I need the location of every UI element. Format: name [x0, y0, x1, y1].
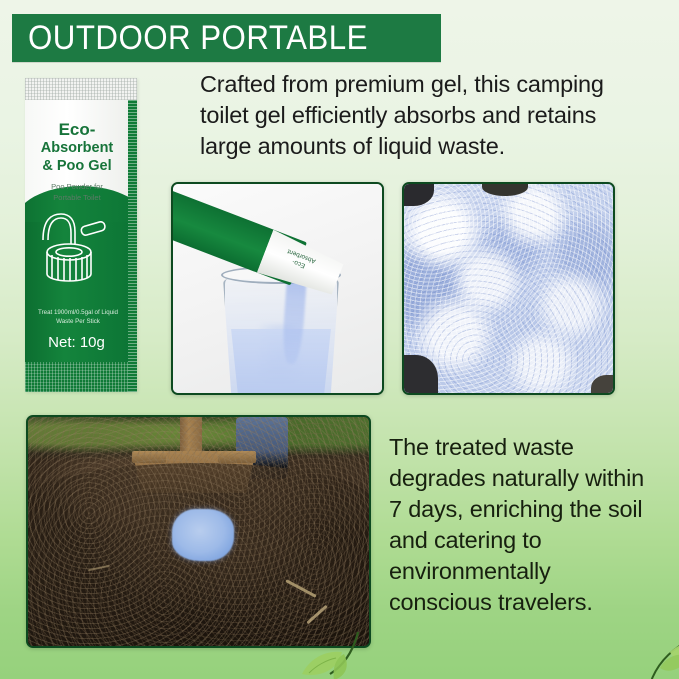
packet-dosage-note: Treat 1900ml/0.5gal of Liquid Waste Per …	[29, 308, 127, 326]
packet-subtitle-line2: Portable Toilet	[25, 192, 129, 203]
packet-dosage-line2: Waste Per Stick	[29, 317, 127, 326]
packet-dosage-line1: Treat 1900ml/0.5gal of Liquid	[29, 308, 127, 317]
packet-branding: Eco- Absorbent & Poo Gel Poo Powder for …	[25, 120, 129, 203]
packet-subtitle-line1: Poo Powder for	[25, 181, 129, 192]
packet-brand-line3: & Poo Gel	[25, 157, 129, 175]
packet-bottom-seal	[25, 362, 137, 392]
packet-subtitle: Poo Powder for Portable Toilet	[25, 181, 129, 203]
packet-top-seal	[25, 78, 137, 100]
packet-brand-line2: Absorbent	[25, 139, 129, 157]
outro-paragraph: The treated waste degrades naturally wit…	[389, 432, 654, 618]
page-title: OUTDOOR PORTABLE	[28, 21, 368, 55]
packet-side-seal	[128, 100, 137, 392]
gel-texture-grain	[404, 184, 613, 393]
photo-gel-crystals	[402, 182, 615, 395]
intro-paragraph: Crafted from premium gel, this camping t…	[200, 69, 645, 162]
packet-net-weight: Net: 10g	[25, 334, 128, 351]
gel-dark-corner-bottomright	[591, 375, 615, 395]
product-packet: Eco- Absorbent & Poo Gel Poo Powder for …	[25, 78, 137, 392]
packet-brand-line1: Eco-	[25, 120, 129, 139]
photo-soil-degradation	[26, 415, 371, 648]
portable-toilet-icon	[37, 206, 115, 286]
leaf-sprout-icon	[640, 628, 679, 679]
blue-gel-patch-in-soil	[172, 509, 234, 561]
drinking-glass	[223, 279, 339, 395]
photo-pouring-into-glass: Eco- Absorbent	[171, 182, 384, 395]
header-banner: OUTDOOR PORTABLE	[12, 14, 441, 62]
